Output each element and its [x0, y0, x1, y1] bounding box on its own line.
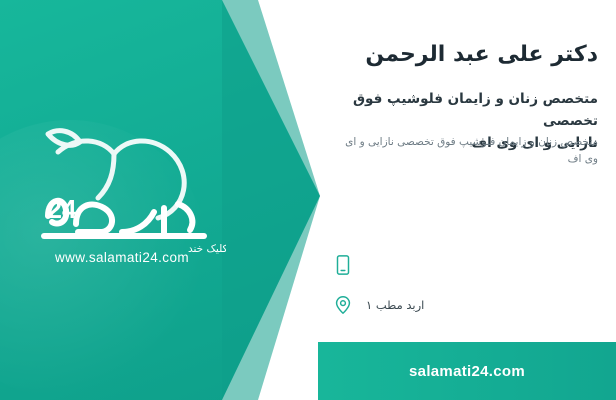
logo-website-url: www.salamati24.com [18, 250, 226, 265]
contact-address-label: اربد مطب ۱ [366, 298, 424, 312]
logo-badge-number: 24 [48, 194, 77, 224]
salamati24-logo: 24 به راحتی یک کلیک خند [18, 112, 226, 262]
bottom-website-bar[interactable]: salamati24.com [318, 342, 616, 400]
specialty-line-1: متخصص زنان و زایمان فلوشیپ فوق تخصصی [330, 88, 598, 132]
logo-badge: 24 [40, 186, 84, 230]
doctor-specialty-subtext: متخصص زنان و زایمان فلوشیپ فوق تخصصی ناز… [330, 134, 598, 168]
doctor-name: دکتر علی عبد الرحمن [328, 42, 598, 67]
contact-row-phone[interactable] [330, 252, 598, 278]
bottom-website-text: salamati24.com [409, 363, 525, 380]
location-pin-icon [330, 292, 356, 318]
business-card: 24 به راحتی یک کلیک خند www.salamati24.c… [0, 0, 616, 400]
card-details: دکتر علی عبد الرحمن متخصص زنان و زایمان … [320, 0, 616, 400]
contact-row-address[interactable]: اربد مطب ۱ [330, 292, 598, 318]
phone-icon [330, 252, 356, 278]
